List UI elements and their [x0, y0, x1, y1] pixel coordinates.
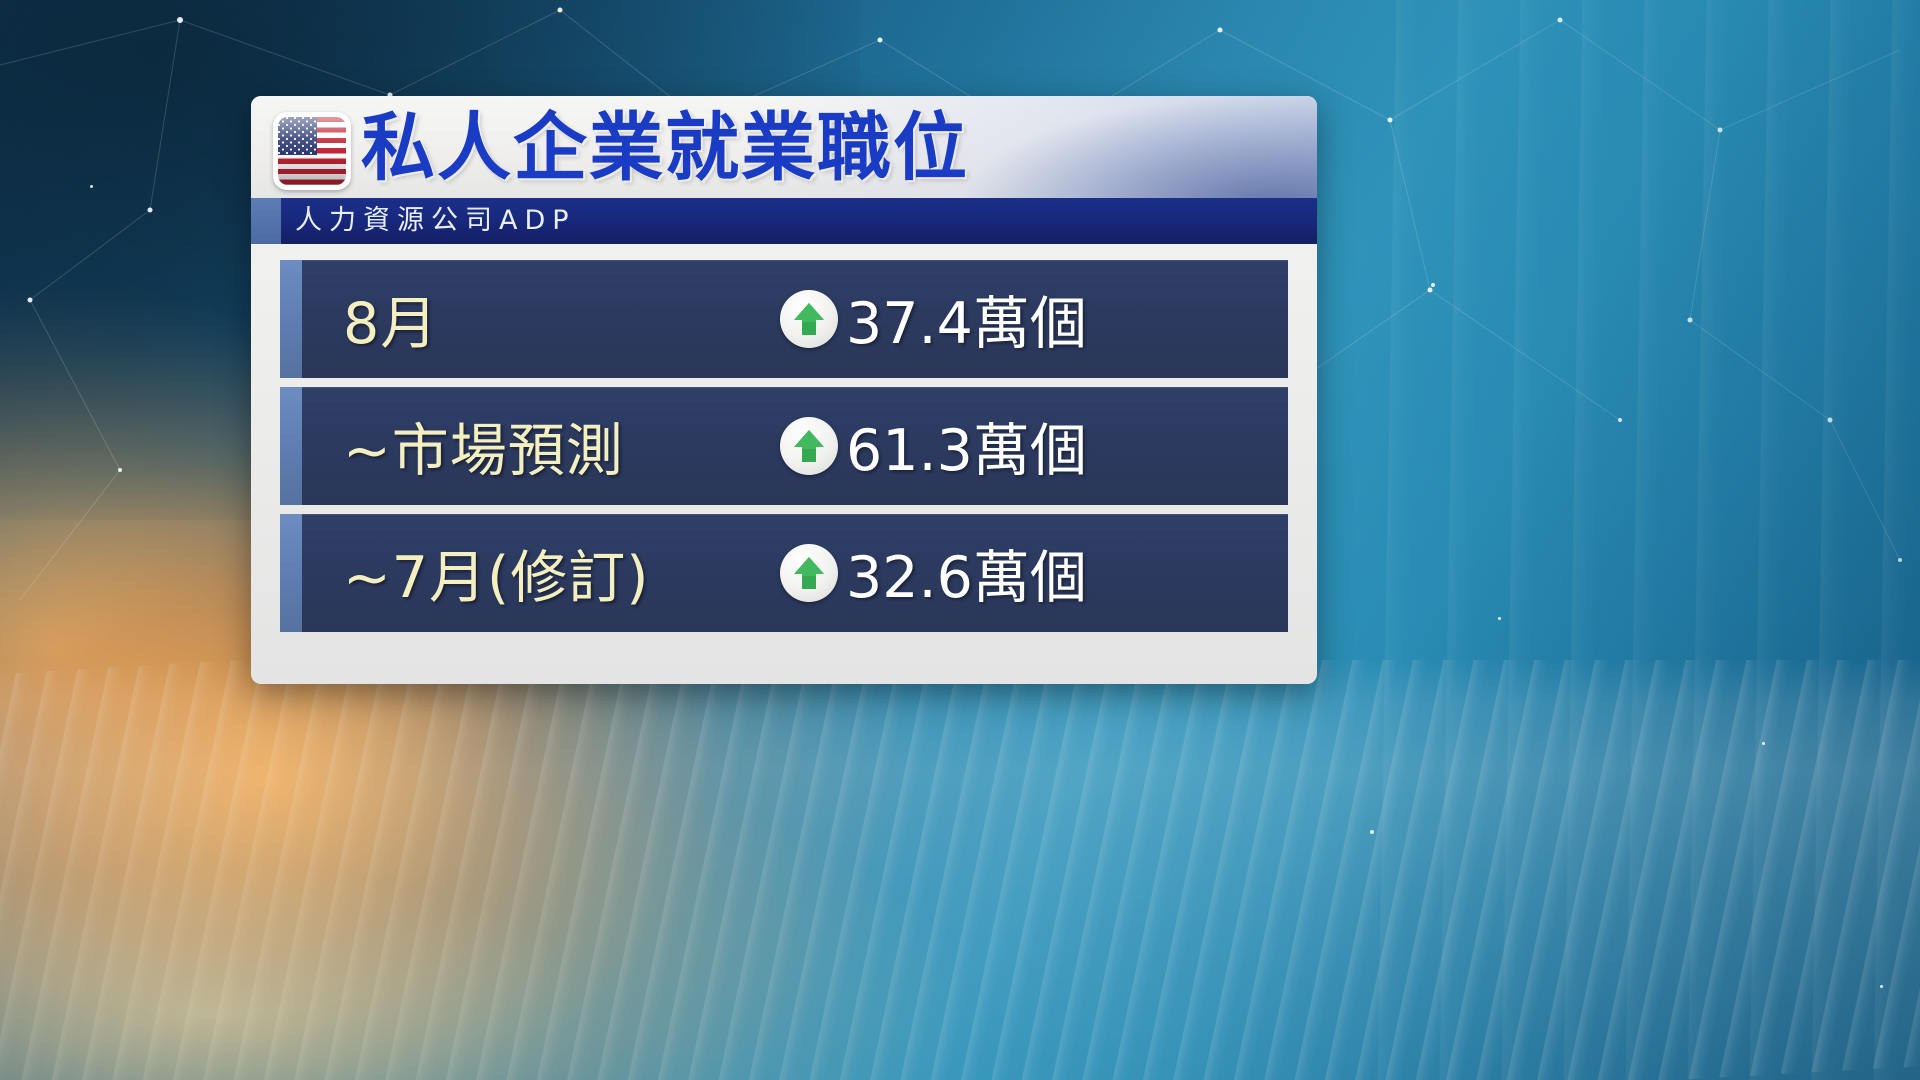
- page-title: 私人企業就業職位: [361, 104, 969, 192]
- subtitle-accent-block: [251, 198, 281, 244]
- row-label: 8月: [343, 278, 438, 360]
- arrow-up-icon: [780, 290, 838, 348]
- sparkle-dot: [1370, 830, 1374, 834]
- sparkle-dot: [1762, 742, 1765, 745]
- flag-gloss-overlay: [278, 117, 346, 185]
- row-value: 61.3萬個: [846, 405, 1087, 487]
- arrow-up-icon: [780, 544, 838, 602]
- row-label: ~7月(修訂): [343, 532, 650, 614]
- row-value-group: 37.4萬個: [780, 278, 1087, 360]
- row-value-group: 32.6萬個: [780, 532, 1087, 614]
- background-floor: [0, 660, 1920, 1080]
- row-label: ~市場預測: [343, 405, 624, 487]
- sparkle-dot: [90, 185, 93, 188]
- news-info-panel: 私人企業就業職位 人力資源公司ADP 8月 37.4萬個 ~: [251, 96, 1317, 684]
- sparkle-dot: [1498, 617, 1501, 620]
- panel-title-bar: 私人企業就業職位: [251, 96, 1317, 198]
- data-row: ~7月(修訂) 32.6萬個: [280, 514, 1288, 632]
- panel-subtitle: 人力資源公司ADP: [295, 198, 576, 244]
- sparkle-dot: [1431, 283, 1435, 287]
- row-value: 37.4萬個: [846, 278, 1087, 360]
- panel-subtitle-bar: 人力資源公司ADP: [251, 198, 1317, 244]
- sparkle-dot: [1880, 985, 1883, 988]
- row-accent-bar: [280, 514, 302, 632]
- data-rows-container: 8月 37.4萬個 ~市場預測: [280, 260, 1288, 632]
- row-accent-bar: [280, 387, 302, 505]
- row-accent-bar: [280, 260, 302, 378]
- row-value: 32.6萬個: [846, 532, 1087, 614]
- us-flag-icon: [273, 112, 351, 190]
- data-row: ~市場預測 61.3萬個: [280, 387, 1288, 505]
- data-row: 8月 37.4萬個: [280, 260, 1288, 378]
- row-value-group: 61.3萬個: [780, 405, 1087, 487]
- floor-warm-glow: [0, 720, 980, 1080]
- arrow-up-icon: [780, 417, 838, 475]
